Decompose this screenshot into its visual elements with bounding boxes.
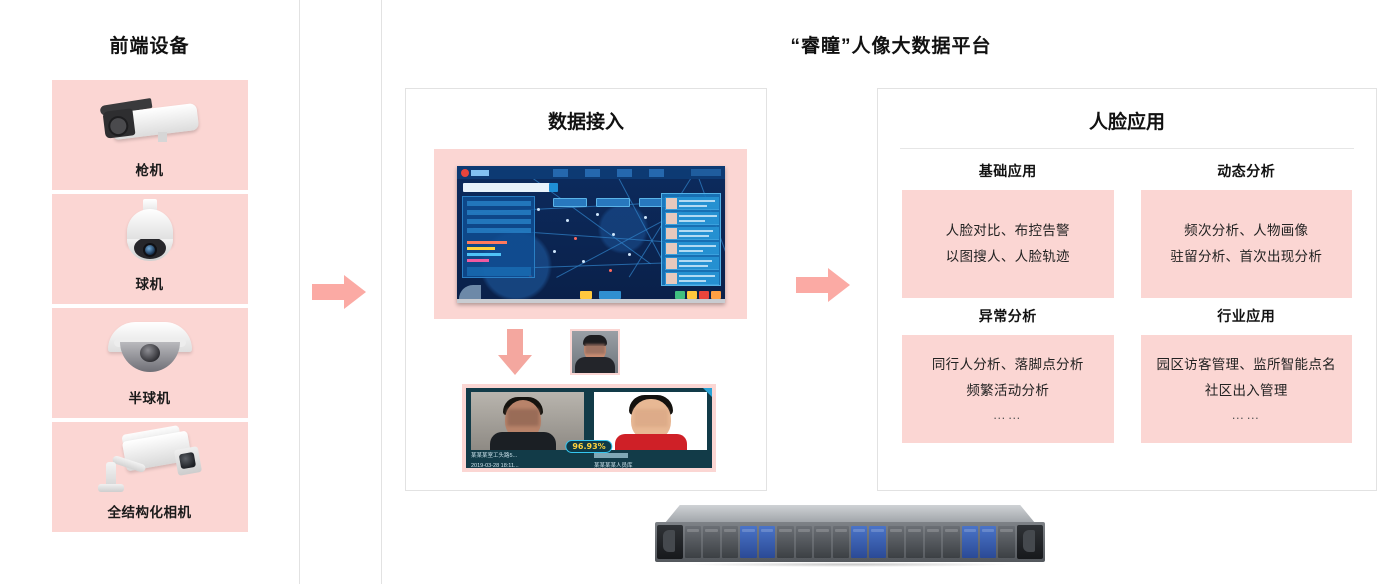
app-cell-dynamic[interactable]: 动态分析 频次分析、人物画像 驻留分析、首次出现分析 [1141,161,1353,298]
app-cell-industry[interactable]: 行业应用 园区访客管理、监所智能点名 社区出入管理 …… [1141,306,1353,443]
app-line: 驻留分析、首次出现分析 [1170,248,1322,266]
device-label: 枪机 [136,159,164,179]
flow-arrow-devices-to-platform [312,275,366,309]
title-divider [900,148,1354,149]
face-application-box: 人脸应用 基础应用 人脸对比、布控告警 以图搜人、人脸轨迹 动态分析 频次分析、… [877,88,1377,491]
data-access-title: 数据接入 [406,107,766,134]
app-ellipsis: …… [1231,407,1261,422]
platform-panel: “睿瞳”人像大数据平台 数据接入 [381,0,1400,584]
device-card-box[interactable]: 全结构化相机 [52,422,248,532]
device-card-ptz[interactable]: 球机 [52,194,248,304]
app-cell-anomaly[interactable]: 异常分析 同行人分析、落脚点分析 频繁活动分析 …… [902,306,1114,443]
app-line: 社区出入管理 [1205,382,1288,400]
device-label: 全结构化相机 [108,501,192,521]
face-match-result-panel[interactable]: 某某某室工头路5... 2019-03-28 18:11... 某某某某人员库 [462,384,716,472]
device-card-fixed-dome[interactable]: 半球机 [52,308,248,418]
box-camera-icon [52,422,248,501]
app-ellipsis: …… [993,407,1023,422]
match-score-badge: 96.93% [565,440,612,453]
app-cell-title: 行业应用 [1217,306,1275,326]
flow-arrow-access-to-apps [796,268,850,302]
ptz-dome-camera-icon [52,194,248,273]
frontend-devices-panel: 前端设备 枪机 球机 [0,0,300,584]
probe-row [498,329,688,375]
app-cell-title: 异常分析 [979,306,1037,326]
frontend-panel-title: 前端设备 [0,31,299,58]
app-cell-title: 动态分析 [1217,161,1275,181]
fixed-dome-camera-icon [52,308,248,387]
app-cell-title: 基础应用 [979,161,1037,181]
flow-arrow-down [498,329,532,375]
diagram-canvas: 前端设备 枪机 球机 [0,0,1400,584]
app-line: 以图搜人、人脸轨迹 [946,248,1070,266]
device-label: 球机 [136,273,164,293]
application-grid: 基础应用 人脸对比、布控告警 以图搜人、人脸轨迹 动态分析 频次分析、人物画像 … [878,161,1376,443]
bullet-camera-icon [52,80,248,159]
capture-location: 某某某室工头路5... [471,452,584,460]
rack-server-icon [655,505,1045,567]
device-list: 枪机 球机 半球机 [0,80,299,532]
app-line: 频次分析、人物画像 [1184,222,1308,240]
app-line: 同行人分析、落脚点分析 [932,356,1084,374]
dashboard-screenshot [434,149,747,319]
data-access-box: 数据接入 [405,88,767,491]
library-label: 某某某某人员库 [594,462,707,470]
match-captured-face: 某某某室工头路5... 2019-03-28 18:11... [466,388,589,468]
app-line: 人脸对比、布控告警 [946,222,1070,240]
device-card-bullet[interactable]: 枪机 [52,80,248,190]
library-name [594,452,707,460]
app-cell-basic[interactable]: 基础应用 人脸对比、布控告警 以图搜人、人脸轨迹 [902,161,1114,298]
face-application-title: 人脸应用 [878,107,1376,134]
device-label: 半球机 [129,387,171,407]
probe-face-thumbnail [570,329,620,375]
match-library-face: 某某某某人员库 [589,388,712,468]
app-line: 园区访客管理、监所智能点名 [1157,356,1336,374]
page-title: “睿瞳”人像大数据平台 [382,31,1400,58]
app-line: 频繁活动分析 [966,382,1049,400]
capture-timestamp: 2019-03-28 18:11... [471,462,584,470]
